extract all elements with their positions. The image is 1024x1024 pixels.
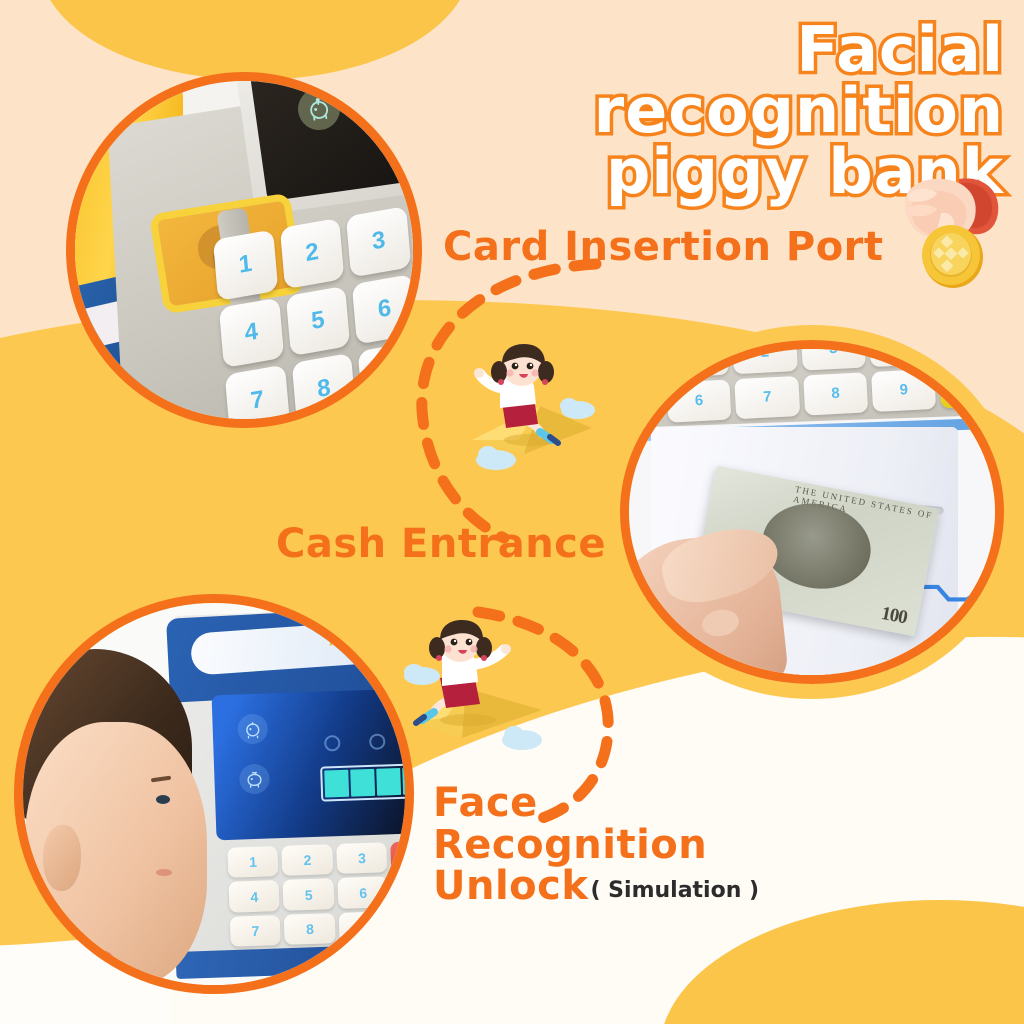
label-face-recognition-unlock: Face Recognition Unlock( Simulation ) bbox=[433, 783, 759, 908]
photo1-key: 3 bbox=[347, 206, 412, 277]
girl-on-paper-plane-left bbox=[466, 344, 596, 481]
battery-bar bbox=[402, 767, 414, 795]
photo3-key: 8 bbox=[284, 913, 336, 945]
photo1-key: 7 bbox=[225, 365, 290, 428]
child-profile bbox=[14, 641, 252, 994]
lips bbox=[156, 869, 172, 876]
photo2-key: 6 bbox=[666, 380, 731, 423]
photo3-key: 5 bbox=[283, 878, 335, 910]
photo3-key: 2 bbox=[282, 844, 334, 876]
photo1-keypad: 1 2 3 4 5 6 7 8 9 bbox=[213, 206, 422, 428]
photo2-key: 9 bbox=[871, 369, 936, 412]
screen-dot-indicator bbox=[324, 734, 341, 751]
battery-indicator-icon bbox=[320, 762, 414, 802]
ear bbox=[43, 825, 81, 891]
photo1-key: 8 bbox=[292, 353, 357, 424]
photo1-screen bbox=[249, 72, 422, 202]
label-face-line-3-row: Unlock( Simulation ) bbox=[433, 866, 759, 908]
label-face-line-1: Face bbox=[433, 783, 759, 825]
photo1-key: 5 bbox=[286, 285, 351, 356]
photo3-brand-text: ATM bbox=[328, 628, 368, 649]
photo2-key: 7 bbox=[734, 376, 799, 419]
label-cash-entrance: Cash Entrance bbox=[276, 521, 606, 567]
battery-bar bbox=[324, 770, 349, 798]
girl-on-paper-plane-right bbox=[402, 618, 554, 763]
photo3-keypad: 1 2 3 ⚭ 4 5 6 0 7 8 9 bbox=[228, 840, 414, 947]
hand-holding-coin bbox=[897, 173, 1005, 298]
cash-entrance-photo: 1 2 3 4 5 6 7 8 9 0 bbox=[620, 340, 1004, 684]
photo1-key: 4 bbox=[219, 297, 284, 368]
title-line-1: Facial recognition bbox=[594, 13, 1004, 147]
product-infographic-poster: Facial recognition piggy bank bbox=[0, 0, 1024, 1024]
photo2-key-enter: 0 bbox=[939, 366, 1004, 409]
photo2-key: 8 bbox=[802, 373, 867, 416]
card-insertion-photo: 1 2 3 4 5 6 7 8 9 bbox=[66, 72, 422, 428]
battery-bar bbox=[376, 768, 401, 796]
bill-denomination: 100 bbox=[879, 603, 908, 629]
photo1-key: 9 bbox=[358, 341, 422, 412]
label-face-line-3: Unlock bbox=[433, 863, 588, 909]
label-card-insertion-port: Card Insertion Port bbox=[443, 224, 884, 270]
label-face-line-2: Recognition bbox=[433, 825, 759, 867]
screen-dot-indicator bbox=[369, 733, 386, 750]
battery-bar bbox=[350, 769, 375, 797]
photo3-key: 3 bbox=[336, 842, 388, 874]
photo3-key: 9 bbox=[339, 911, 391, 943]
photo2-key: 3 bbox=[800, 340, 865, 371]
face-recognition-photo: ATM bbox=[14, 594, 414, 994]
photo3-key: 6 bbox=[338, 876, 390, 908]
photo1-key: 2 bbox=[280, 218, 345, 289]
simulation-note: ( Simulation ) bbox=[590, 878, 759, 903]
photo1-key: 1 bbox=[213, 229, 278, 300]
photo1-key: 6 bbox=[352, 274, 417, 345]
